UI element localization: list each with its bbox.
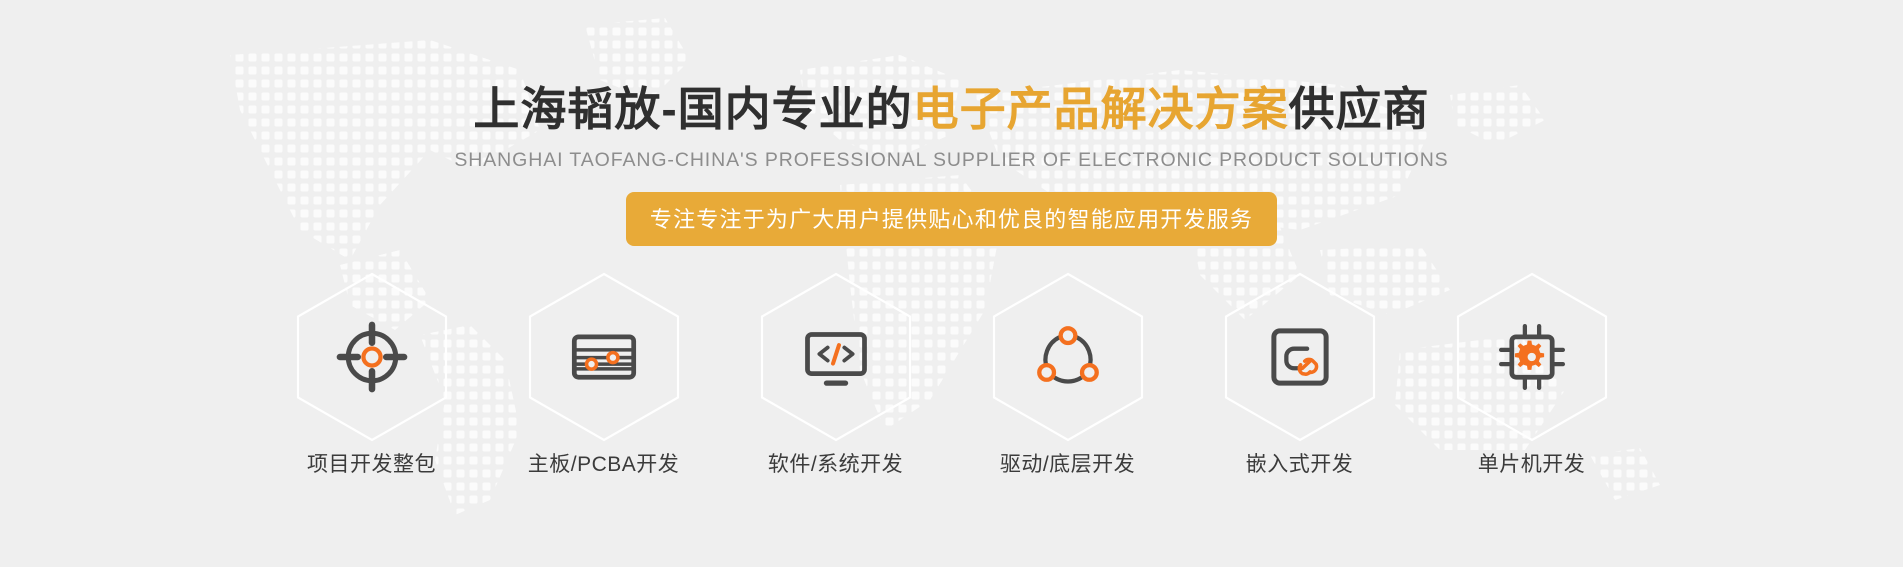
hexagon-frame — [296, 272, 448, 442]
service-item-embedded[interactable]: 嵌入式开发 — [1203, 272, 1397, 478]
service-label: 项目开发整包 — [307, 448, 436, 478]
service-item-pcba[interactable]: 主板/PCBA开发 — [507, 272, 701, 478]
crosshair-target-icon — [334, 319, 410, 395]
hexagon-frame — [1224, 272, 1376, 442]
page-subtitle: SHANGHAI TAOFANG-CHINA'S PROFESSIONAL SU… — [454, 149, 1448, 172]
hero-banner: 上海韬放-国内专业的电子产品解决方案供应商 SHANGHAI TAOFANG-C… — [0, 0, 1903, 567]
headline-suffix: 供应商 — [1289, 83, 1430, 135]
service-label: 单片机开发 — [1478, 448, 1586, 478]
circuit-board-icon — [566, 319, 642, 395]
service-item-software[interactable]: 软件/系统开发 — [739, 272, 933, 478]
service-label: 主板/PCBA开发 — [528, 448, 680, 478]
hexagon-frame — [528, 272, 680, 442]
chip-link-icon — [1262, 319, 1338, 395]
node-network-icon — [1030, 319, 1106, 395]
service-label: 软件/系统开发 — [768, 448, 903, 478]
hexagon-frame — [992, 272, 1144, 442]
service-label: 嵌入式开发 — [1246, 448, 1354, 478]
service-item-project-package[interactable]: 项目开发整包 — [275, 272, 469, 478]
service-item-driver[interactable]: 驱动/底层开发 — [971, 272, 1165, 478]
monitor-code-icon — [798, 319, 874, 395]
service-list: 项目开发整包 — [275, 272, 1629, 478]
hexagon-frame — [1456, 272, 1608, 442]
service-item-mcu[interactable]: 单片机开发 — [1435, 272, 1629, 478]
service-label: 驱动/底层开发 — [1000, 448, 1135, 478]
tagline-badge: 专注专注于为广大用户提供贴心和优良的智能应用开发服务 — [626, 192, 1277, 246]
mcu-gear-icon — [1494, 319, 1570, 395]
page-title: 上海韬放-国内专业的电子产品解决方案供应商 — [473, 84, 1429, 135]
headline-accent: 电子产品解决方案 — [913, 83, 1289, 135]
headline-prefix: 上海韬放-国内专业的 — [473, 83, 912, 135]
hexagon-frame — [760, 272, 912, 442]
